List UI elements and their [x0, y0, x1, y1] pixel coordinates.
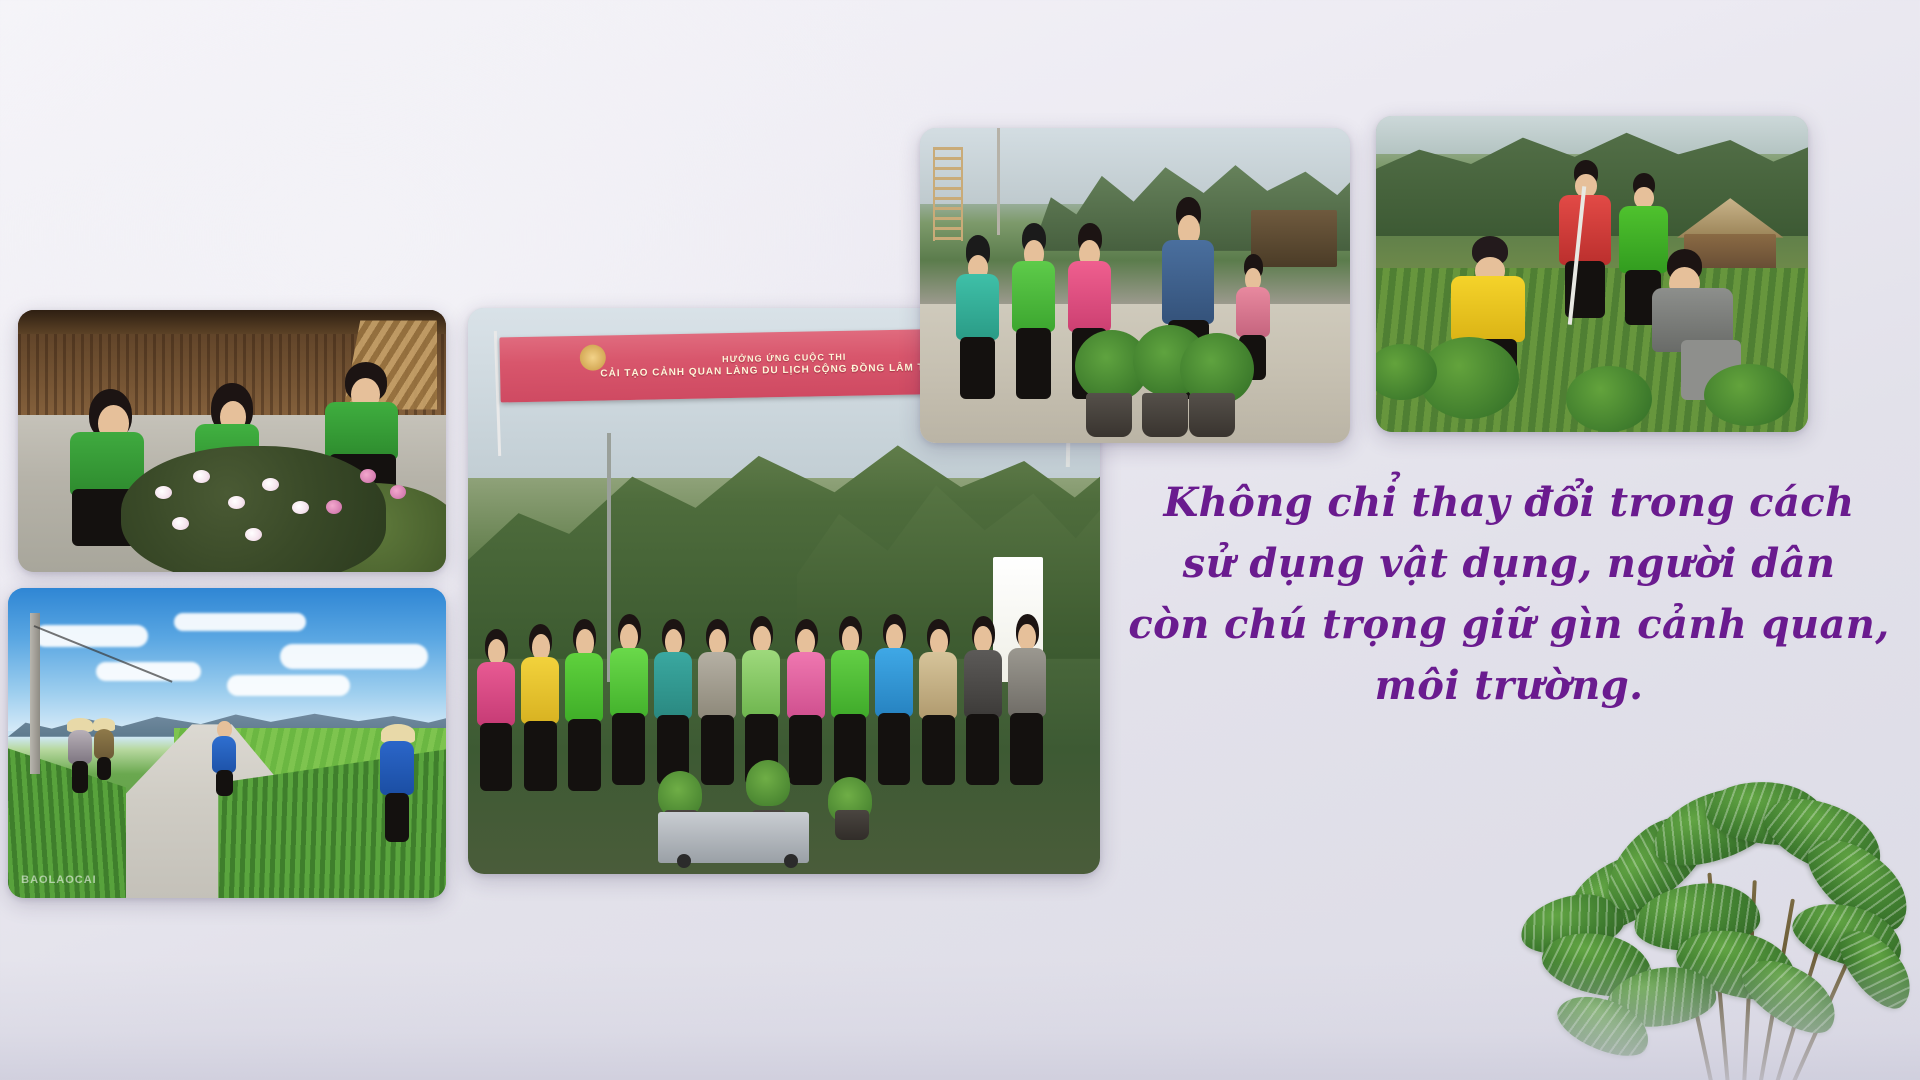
quote-line-2: sử dụng vật dụng, người dân: [1183, 534, 1836, 595]
cloud: [174, 613, 305, 632]
patterned-shirt: [68, 730, 92, 764]
black-skirt: [878, 713, 911, 785]
plant-pot: [835, 810, 869, 840]
dark-shirt: [964, 650, 1002, 718]
crowd-person: [784, 619, 828, 786]
beige-shirt: [919, 652, 957, 719]
plant-pot-group: [1083, 304, 1229, 436]
potted-plant-leaves: [746, 760, 790, 806]
flower-bed: [121, 446, 386, 572]
banner-line-2: CẢI TẠO CẢNH QUAN LÀNG DU LỊCH CỘNG ĐỒNG…: [600, 362, 969, 380]
white-flower: [262, 478, 279, 491]
green-shirt: [831, 650, 869, 718]
crowd-person: [828, 616, 872, 785]
crowd-person: [651, 619, 695, 786]
white-flower: [228, 496, 245, 509]
black-trousers: [966, 714, 999, 785]
light-green-shirt: [742, 650, 780, 718]
dark-trousers: [97, 757, 111, 781]
black-skirt: [789, 715, 822, 785]
green-shirt: [610, 648, 648, 717]
crowd-person: [519, 624, 563, 791]
banner-line-1: HƯỞNG ỨNG CUỘC THI: [722, 352, 847, 364]
plant-leaf: [1702, 774, 1831, 852]
plant-leaf: [1632, 880, 1762, 955]
cloud: [227, 675, 350, 697]
plant-leaf: [1554, 840, 1685, 947]
quote-line-4: môi trường.: [1375, 656, 1644, 717]
black-skirt: [480, 723, 513, 791]
red-shirt: [1559, 195, 1612, 265]
blue-shirt: [212, 736, 237, 773]
pink-flower: [390, 485, 406, 499]
crowd-person: [696, 619, 740, 786]
green-shirt: [565, 653, 603, 722]
crowd-person: [1005, 614, 1049, 786]
cart-wheel: [677, 854, 691, 868]
person-worker-blue-middle: [209, 721, 240, 795]
black-skirt: [960, 337, 995, 399]
pink-shirt: [1236, 287, 1270, 337]
photo-rural-road: BAOLAOCAI: [8, 588, 446, 898]
pull-quote: Không chỉ thay đổi trong cách sử dụng vậ…: [1098, 430, 1920, 760]
photo-carry-plants: [920, 128, 1350, 443]
photo-watermark: BAOLAOCAI: [21, 874, 97, 886]
thatched-roof: [1670, 198, 1791, 237]
yellow-shirt: [521, 657, 559, 724]
cloud: [280, 644, 429, 669]
plant-leaf: [1643, 776, 1785, 878]
photo-planting-trees-scene: [1376, 116, 1808, 432]
blue-shirt: [875, 648, 913, 717]
green-shirt: [325, 402, 398, 460]
crowd-person: [872, 614, 916, 786]
black-trousers: [1010, 713, 1043, 785]
pink-shirt: [477, 662, 515, 727]
cloud: [34, 625, 148, 647]
black-skirt: [922, 715, 955, 785]
quote-line-1: Không chỉ thay đổi trong cách: [1164, 473, 1855, 534]
bottom-fade-overlay: [0, 960, 1920, 1080]
national-emblem-icon: [579, 345, 605, 371]
photo-women-flowers-scene: [18, 310, 446, 572]
dark-trousers: [72, 761, 89, 792]
crowd-person: [607, 614, 651, 786]
green-shirt: [1012, 261, 1055, 332]
black-skirt: [524, 721, 557, 791]
yellow-shirt: [1451, 276, 1525, 343]
plant-leaf: [1794, 820, 1920, 945]
photo-planting-trees: [1376, 116, 1808, 432]
teal-shirt: [956, 274, 999, 340]
plant-leaf: [1516, 887, 1628, 960]
person-worker-blue-right: [376, 724, 420, 842]
green-shrub: [1566, 366, 1652, 432]
white-flower: [245, 528, 262, 541]
green-shrub: [1704, 364, 1794, 426]
black-skirt: [568, 719, 601, 791]
plant-leaf: [1754, 780, 1894, 892]
person-carrying-plant-2: [1010, 223, 1057, 399]
quote-line-3: còn chú trọng giữ gìn cảnh quan,: [1128, 595, 1889, 656]
teal-shirt: [654, 652, 692, 719]
head: [488, 639, 506, 665]
white-flower: [155, 486, 172, 499]
person-carrying-plant-1: [954, 235, 1001, 399]
photo-women-flowers: [18, 310, 446, 572]
crowd-person: [917, 619, 961, 786]
person-worker-left-2: [91, 718, 117, 780]
person-red-shirt: [1557, 160, 1613, 318]
electric-pole: [997, 128, 1000, 235]
photo-carry-plants-scene: [920, 128, 1350, 443]
pink-shirt: [787, 652, 825, 719]
blue-shirt: [380, 741, 414, 795]
plant-leaf: [1589, 799, 1722, 925]
black-skirt: [1016, 328, 1051, 399]
crowd-person: [563, 619, 607, 791]
grey-shirt: [1008, 648, 1046, 717]
black-skirt: [701, 715, 734, 785]
bamboo-ladder: [933, 147, 963, 242]
dark-trousers: [385, 793, 410, 842]
photo-rural-road-scene: BAOLAOCAI: [8, 588, 446, 898]
electric-pole: [30, 613, 41, 774]
black-skirt: [612, 713, 645, 785]
crowd-person: [961, 616, 1005, 785]
dark-trousers: [216, 770, 233, 795]
black-skirt: [834, 714, 867, 785]
grey-shirt: [698, 652, 736, 719]
shirt: [94, 729, 113, 759]
crowd-person: [474, 629, 518, 790]
